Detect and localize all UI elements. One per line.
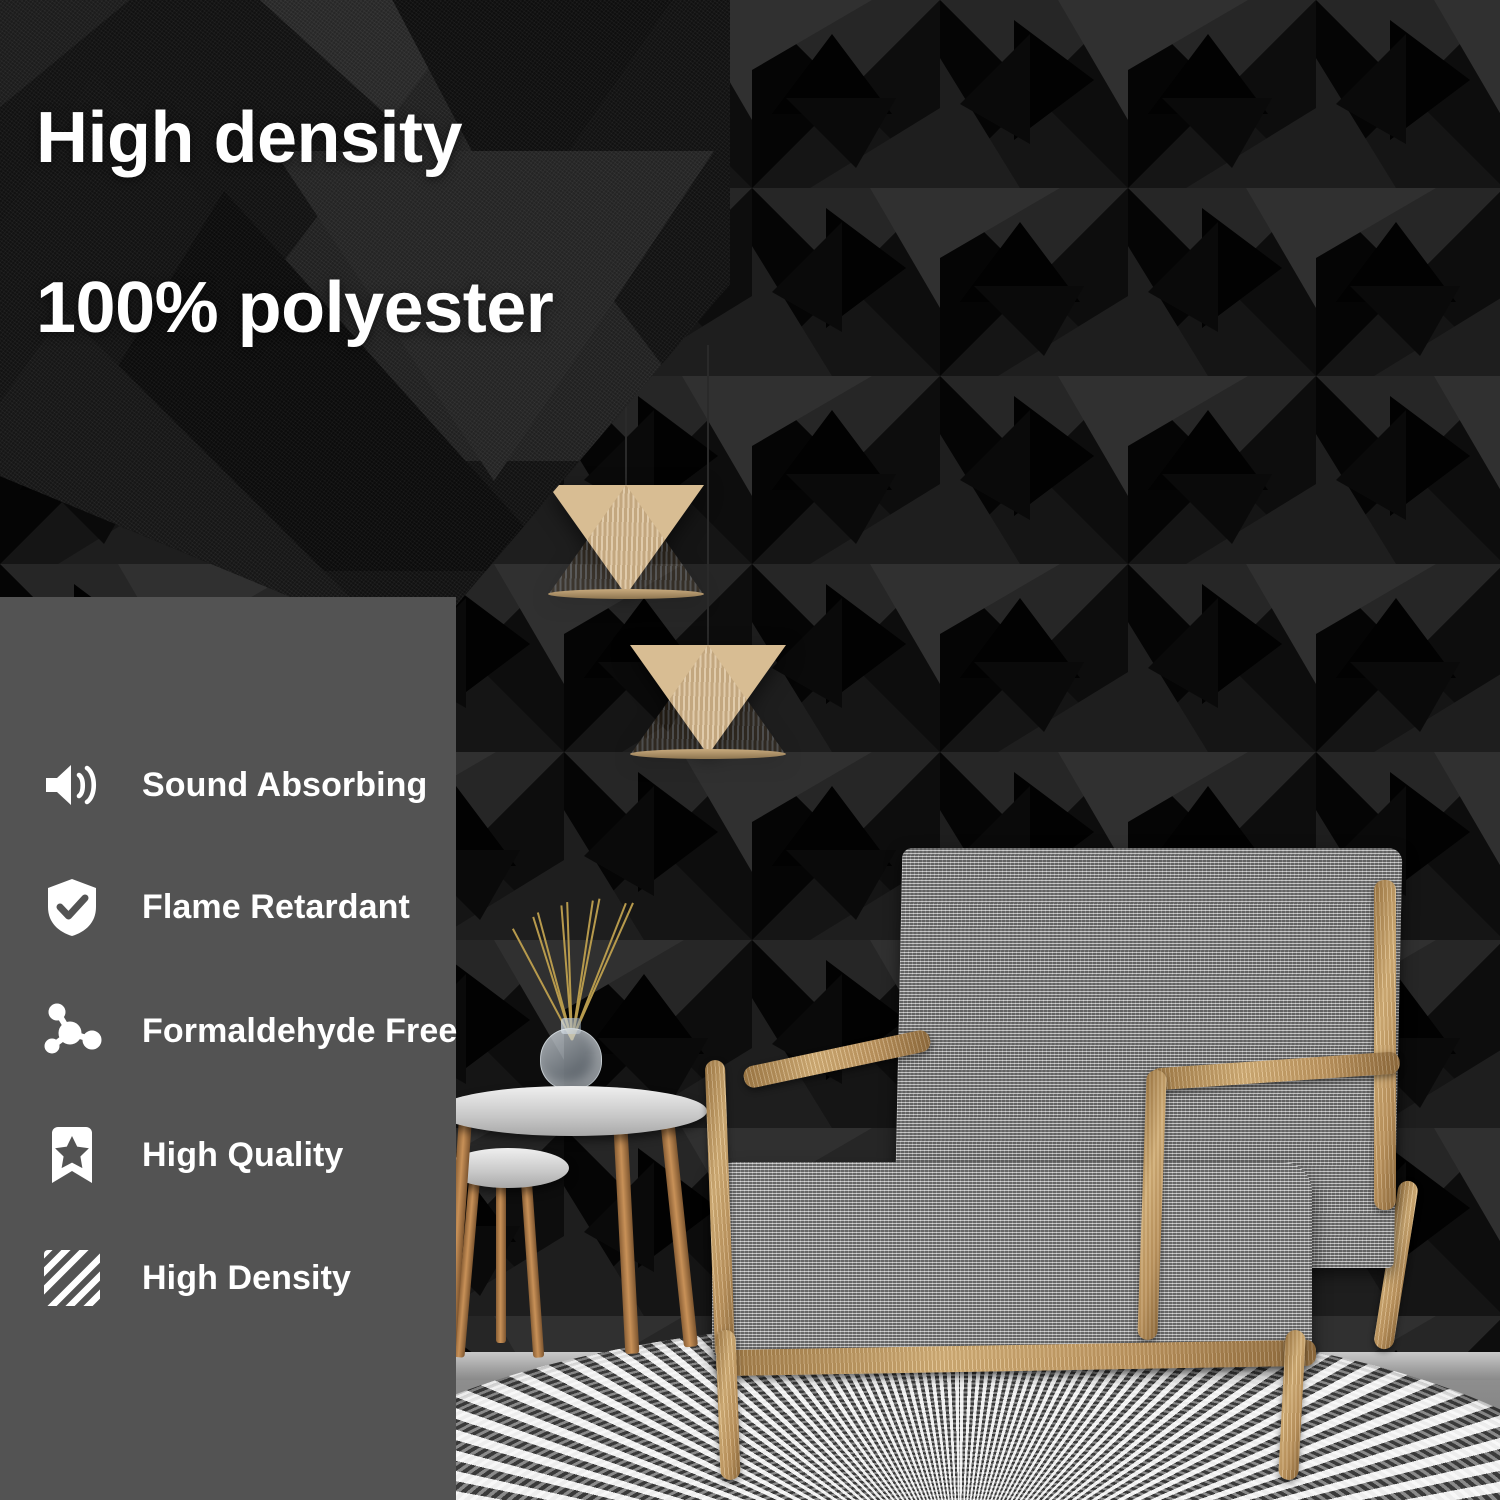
pendant-lamp-1 — [548, 485, 704, 595]
feature-list-panel: Sound Absorbing Flame Retardant — [0, 597, 456, 1500]
feature-item-high-density[interactable]: High Density — [36, 1242, 351, 1314]
feature-item-flame-retardant[interactable]: Flame Retardant — [36, 871, 410, 943]
bookmark-star-icon — [36, 1119, 108, 1191]
feature-label: Flame Retardant — [142, 888, 410, 927]
feature-label: High Density — [142, 1259, 351, 1298]
side-table-top — [437, 1086, 707, 1136]
feature-label: Sound Absorbing — [142, 766, 427, 805]
diagonal-hatch-icon — [36, 1242, 108, 1314]
headline-line-2: 100% polyester — [36, 266, 553, 351]
small-table-leg-3 — [496, 1168, 506, 1343]
pendant-lip-2 — [630, 749, 786, 759]
page-title: High density 100% polyester — [36, 96, 553, 351]
feature-item-sound-absorbing[interactable]: Sound Absorbing — [36, 749, 427, 821]
pendant-lamp-2 — [630, 645, 786, 755]
shield-check-icon — [36, 871, 108, 943]
diffuser-vase — [540, 1028, 602, 1090]
chair-frame-right-upright — [1374, 880, 1396, 1210]
feature-item-high-quality[interactable]: High Quality — [36, 1119, 343, 1191]
headline-line-1: High density — [36, 96, 553, 181]
product-feature-image: High density 100% polyester Sound Absorb… — [0, 0, 1500, 1500]
molecule-icon — [36, 995, 108, 1067]
pendant-lip-1 — [548, 589, 704, 599]
pendant-cord-2 — [707, 345, 709, 645]
feature-label: High Quality — [142, 1136, 343, 1175]
feature-label: Formaldehyde Free — [142, 1012, 457, 1051]
speaker-sound-waves-icon — [36, 749, 108, 821]
chair-seat-cushion — [712, 1162, 1312, 1362]
feature-item-formaldehyde-free[interactable]: Formaldehyde Free — [36, 995, 457, 1067]
